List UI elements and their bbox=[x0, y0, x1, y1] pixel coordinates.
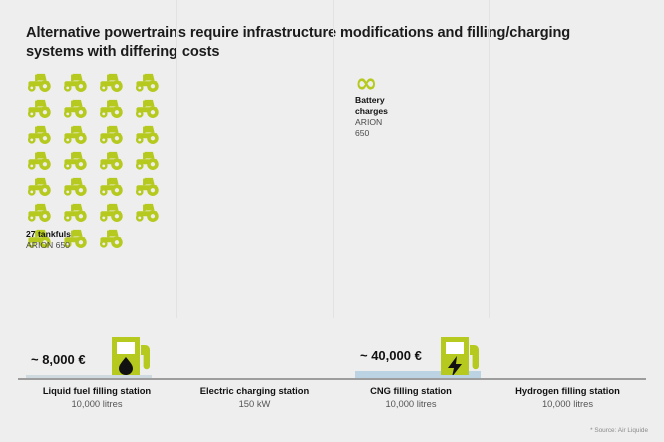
page-title: Alternative powertrains require infrastr… bbox=[26, 24, 586, 62]
tractor-icon bbox=[62, 98, 90, 119]
station-spec: 10,000 litres bbox=[18, 397, 176, 410]
column-hydrogen: 2 tankfuls ARION 650 ~ 800,000 €* H 2 bbox=[489, 62, 664, 380]
station-name: Electric charging station bbox=[176, 384, 333, 397]
station-spec: 10,000 litres bbox=[489, 397, 646, 410]
tractor-icon bbox=[98, 150, 126, 171]
tractor-icon bbox=[134, 72, 162, 93]
station-name: Liquid fuel filling station bbox=[18, 384, 176, 397]
tractor-icon bbox=[134, 98, 162, 119]
station-caption-electric: Electric charging station 150 kW bbox=[176, 384, 333, 410]
fuel-pump-droplet-icon bbox=[110, 331, 152, 380]
tractor-icon bbox=[62, 124, 90, 145]
tractor-icon bbox=[26, 124, 54, 145]
station-caption-liquid: Liquid fuel filling station 10,000 litre… bbox=[18, 384, 176, 410]
tractor-icon bbox=[98, 124, 126, 145]
tractor-icon bbox=[26, 202, 54, 223]
capacity-label: 27 tankfuls bbox=[26, 229, 71, 240]
column-cng: 6 tankfuls ARION 650 ~ 400,000 €* bbox=[332, 62, 489, 380]
station-caption-cng: CNG filling station 10,000 litres bbox=[333, 384, 489, 410]
columns-area: 27 tankfuls ARION 650 ~ 8,000 € ∞ Batter… bbox=[0, 62, 664, 380]
tractor-icon bbox=[134, 150, 162, 171]
tractor-icon bbox=[26, 98, 54, 119]
tractor-icon bbox=[62, 150, 90, 171]
station-name: Hydrogen filling station bbox=[489, 384, 646, 397]
tractor-icon bbox=[98, 176, 126, 197]
tractor-icon bbox=[26, 72, 54, 93]
tractor-icon bbox=[98, 98, 126, 119]
column-liquid-fuel: 27 tankfuls ARION 650 ~ 8,000 € bbox=[0, 62, 170, 380]
tractor-icon bbox=[134, 202, 162, 223]
tractor-icon bbox=[26, 150, 54, 171]
tractor-icon bbox=[62, 176, 90, 197]
tractor-icon bbox=[26, 176, 54, 197]
station-name: CNG filling station bbox=[333, 384, 489, 397]
capacity-model: ARION 650 bbox=[26, 240, 71, 251]
source-note: * Source: Air Liquide bbox=[590, 427, 648, 434]
tractor-icon bbox=[98, 228, 126, 249]
tractor-icon bbox=[98, 202, 126, 223]
tractor-icon bbox=[62, 202, 90, 223]
infographic-canvas: Alternative powertrains require infrastr… bbox=[0, 0, 664, 442]
value-label-liquid: ~ 8,000 € bbox=[31, 352, 86, 367]
tractor-icon bbox=[62, 72, 90, 93]
tractor-pictogram-group bbox=[26, 72, 162, 249]
station-spec: 150 kW bbox=[176, 397, 333, 410]
column-electric: ∞ Battery charges ARION 650 ~ 40,000 € bbox=[170, 62, 332, 380]
station-spec: 10,000 litres bbox=[333, 397, 489, 410]
capacity-caption: 27 tankfuls ARION 650 bbox=[26, 229, 71, 251]
tractor-icon bbox=[98, 72, 126, 93]
tractor-icon bbox=[134, 176, 162, 197]
tractor-icon bbox=[134, 124, 162, 145]
station-caption-hydrogen: Hydrogen filling station 10,000 litres bbox=[489, 384, 646, 410]
axis-baseline bbox=[18, 378, 646, 380]
